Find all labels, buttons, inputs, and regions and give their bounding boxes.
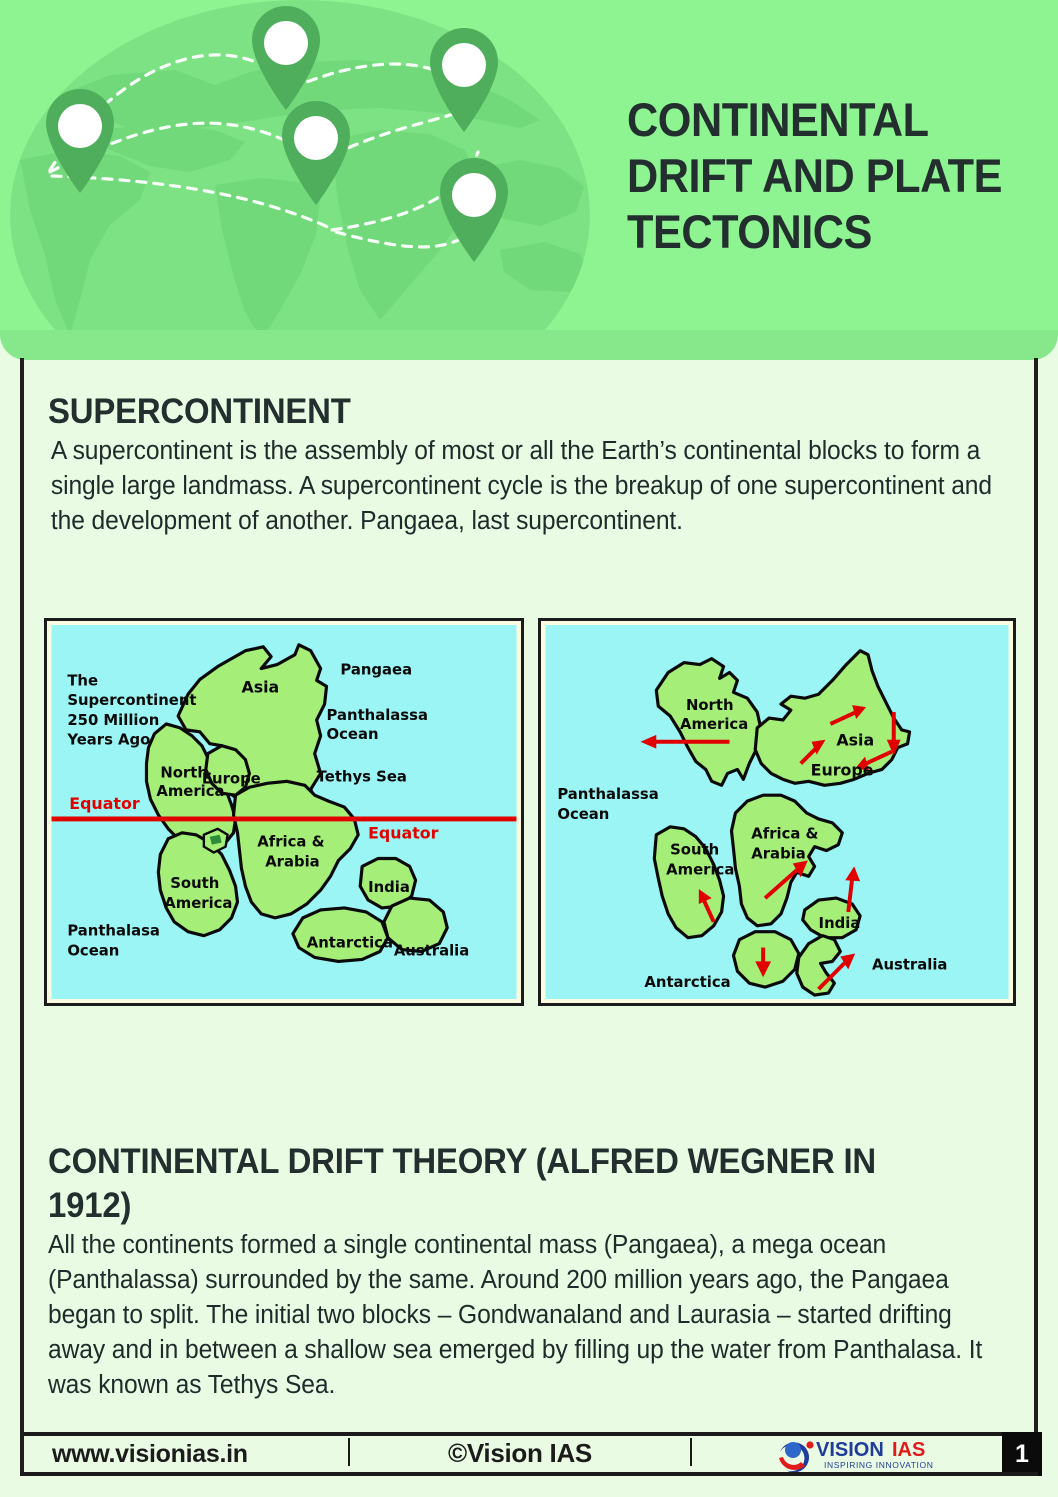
figure-caption-line-3: 250 Million (67, 712, 159, 729)
ocean-label-panthalassa-1-right: Panthalassa (557, 786, 658, 803)
section-heading-supercontinent: SUPERCONTINENT (48, 390, 956, 434)
logo-text-ias: IAS (892, 1439, 925, 1461)
main-content: SUPERCONTINENT A supercontinent is the a… (48, 390, 1014, 539)
pangaea-map-svg: Equator Equator The Supercontinent 250 M… (51, 625, 517, 999)
figure-pangaea-supercontinent: Equator Equator The Supercontinent 250 M… (44, 618, 524, 1006)
figure-caption-line-4: Years Ago (66, 732, 150, 749)
page-title-line-2: DRIFT AND PLATE (627, 148, 1013, 204)
continent-label-asia-right: Asia (836, 731, 874, 750)
continent-label-north-america-1: North (160, 764, 208, 781)
logo-text-vision: VISION (816, 1439, 884, 1461)
continent-label-north-america-2-right: America (680, 716, 748, 733)
continent-label-europe: Europe (202, 770, 261, 787)
page-title-line-3: TECTONICS (627, 204, 1013, 260)
ocean-label-panthalassa-2-right: Ocean (557, 806, 609, 823)
ocean-label-panthalasa-2: Ocean (67, 942, 119, 959)
footer-divider-1 (348, 1438, 350, 1466)
equator-label-right: Equator (368, 824, 439, 843)
continent-label-africa-1: Africa & (257, 834, 324, 851)
continent-label-antarctica-right: Antarctica (644, 974, 730, 991)
page-number-badge: 1 (1002, 1432, 1042, 1476)
continent-label-australia: Australia (394, 942, 469, 959)
continent-label-africa-2-right: Arabia (751, 846, 806, 863)
footer-website-link[interactable]: www.visionias.in (52, 1440, 248, 1469)
continent-label-south-america-2: America (164, 895, 232, 912)
page-title: CONTINENTAL DRIFT AND PLATE TECTONICS (627, 92, 1013, 260)
section-heading-continental-drift-theory: CONTINENTAL DRIFT THEORY (ALFRED WEGNER … (48, 1140, 932, 1228)
continent-label-india: India (368, 879, 410, 896)
logo-mark-icon (779, 1441, 814, 1472)
ocean-label-tethys-sea: Tethys Sea (317, 768, 407, 785)
page-title-line-1: CONTINENTAL (627, 92, 1013, 148)
continent-label-antarctica: Antarctica (307, 935, 393, 952)
footer-copyright: ©Vision IAS (448, 1438, 592, 1469)
footer-divider-2 (690, 1438, 692, 1466)
section-body-continental-drift-theory: All the continents formed a single conti… (48, 1228, 999, 1403)
header-bottom-shadow (0, 330, 1058, 360)
page-root: CONTINENTAL DRIFT AND PLATE TECTONICS SU… (0, 0, 1058, 1497)
footer: www.visionias.in ©Vision IAS VISION IAS … (24, 1436, 1038, 1474)
continent-label-australia-right: Australia (872, 956, 947, 973)
continent-label-india-right: India (819, 915, 861, 932)
logo-tagline: INSPIRING INNOVATION (824, 1460, 933, 1470)
hero-globe-illustration (0, 0, 640, 340)
section-body-supercontinent: A supercontinent is the assembly of most… (48, 434, 1001, 539)
figure-caption-line-2: Supercontinent (67, 692, 196, 709)
figure-continental-drift: Panthalassa Ocean North America Asia Eur… (538, 618, 1016, 1006)
ocean-label-panthalassa-2: Ocean (327, 726, 379, 743)
footer-bottom-rule (20, 1472, 1038, 1476)
equator-label-left: Equator (69, 794, 140, 813)
ocean-label-panthalasa-1: Panthalasa (67, 923, 160, 940)
continent-label-south-america-1: South (170, 875, 219, 892)
figure-caption-line-1: The (67, 672, 98, 689)
continent-label-asia: Asia (241, 677, 279, 696)
continent-label-europe-right: Europe (811, 760, 874, 779)
ocean-label-panthalassa-1: Panthalassa (327, 707, 428, 724)
header-banner-inner: CONTINENTAL DRIFT AND PLATE TECTONICS (0, 0, 1058, 340)
continent-label-south-america-1-right: South (670, 842, 719, 859)
header-banner: CONTINENTAL DRIFT AND PLATE TECTONICS (0, 0, 1058, 360)
continent-label-south-america-2-right: America (666, 861, 734, 878)
figure-row: Equator Equator The Supercontinent 250 M… (44, 618, 1016, 1006)
continent-label-africa-1-right: Africa & (751, 826, 818, 843)
drift-map-svg: Panthalassa Ocean North America Asia Eur… (545, 625, 1009, 999)
main-content-section-2: CONTINENTAL DRIFT THEORY (ALFRED WEGNER … (48, 1140, 1014, 1403)
continent-label-africa-2: Arabia (265, 853, 320, 870)
ocean-label-pangaea: Pangaea (340, 661, 412, 678)
visionias-logo: VISION IAS INSPIRING INNOVATION (776, 1434, 956, 1476)
continent-label-north-america-1-right: North (686, 697, 734, 714)
